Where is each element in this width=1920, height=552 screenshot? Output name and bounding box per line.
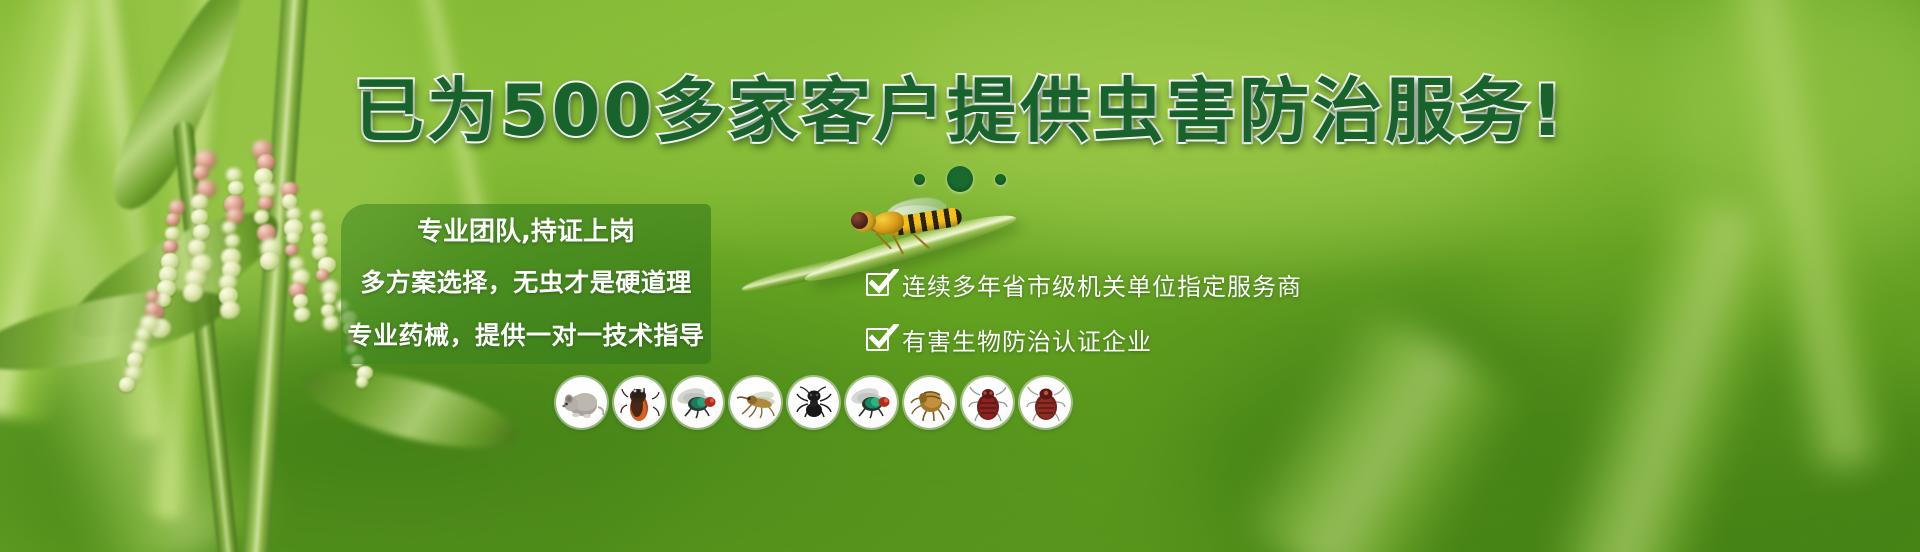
decor-dot-small-left: [914, 174, 925, 185]
banner-headline: 已为500多家客户提供虫害防治服务!: [0, 72, 1920, 150]
flower-bud-bead: [323, 292, 336, 304]
hoverfly-photo: [848, 198, 966, 254]
flower-bud-bead: [286, 232, 299, 244]
decorative-dot-group: [0, 166, 1920, 192]
pest-control-hero-banner: 已为500多家客户提供虫害防治服务! 专业团队,持证上岗 多方案选择，无虫才是硬…: [0, 0, 1920, 552]
checkbox-checked-icon: [866, 273, 889, 296]
fly-icon: [672, 377, 723, 428]
checkbox-checked-icon: [866, 328, 889, 351]
flower-bud-bead: [220, 301, 240, 319]
promo-line-3: 专业药械，提供一对一技术指导: [341, 309, 711, 362]
promo-line-1: 专业团队,持证上岗: [341, 208, 711, 256]
flower-bud-bead: [163, 240, 178, 253]
promo-line-2: 多方案选择，无虫才是硬道理: [341, 256, 711, 309]
mosquito-icon: [730, 377, 781, 428]
cockroach-icon: [614, 377, 665, 428]
checklist-item: 连续多年省市级机关单位指定服务商: [866, 267, 1302, 302]
tick-icon: [1020, 377, 1071, 428]
bedbug-icon: [962, 377, 1013, 428]
ant-icon: [788, 377, 839, 428]
decor-dot-medium-center: [947, 166, 973, 192]
pest-type-icon-row: [556, 377, 1071, 428]
blowfly-icon: [846, 377, 897, 428]
decor-dot-small-right: [995, 174, 1006, 185]
checklist-item-label: 有害生物防治认证企业: [902, 322, 1152, 357]
credentials-checklist: 连续多年省市级机关单位指定服务商 有害生物防治认证企业: [866, 267, 1302, 357]
flower-bud-bead: [310, 210, 323, 222]
hoverfly-eye: [851, 212, 868, 229]
promo-panel: 专业团队,持证上岗 多方案选择，无虫才是硬道理 专业药械，提供一对一技术指导: [341, 204, 711, 364]
checklist-item-label: 连续多年省市级机关单位指定服务商: [902, 267, 1302, 302]
mouse-icon: [556, 377, 607, 428]
checklist-item: 有害生物防治认证企业: [866, 322, 1302, 357]
flea-icon: [904, 377, 955, 428]
flower-bud-bead: [193, 224, 210, 240]
